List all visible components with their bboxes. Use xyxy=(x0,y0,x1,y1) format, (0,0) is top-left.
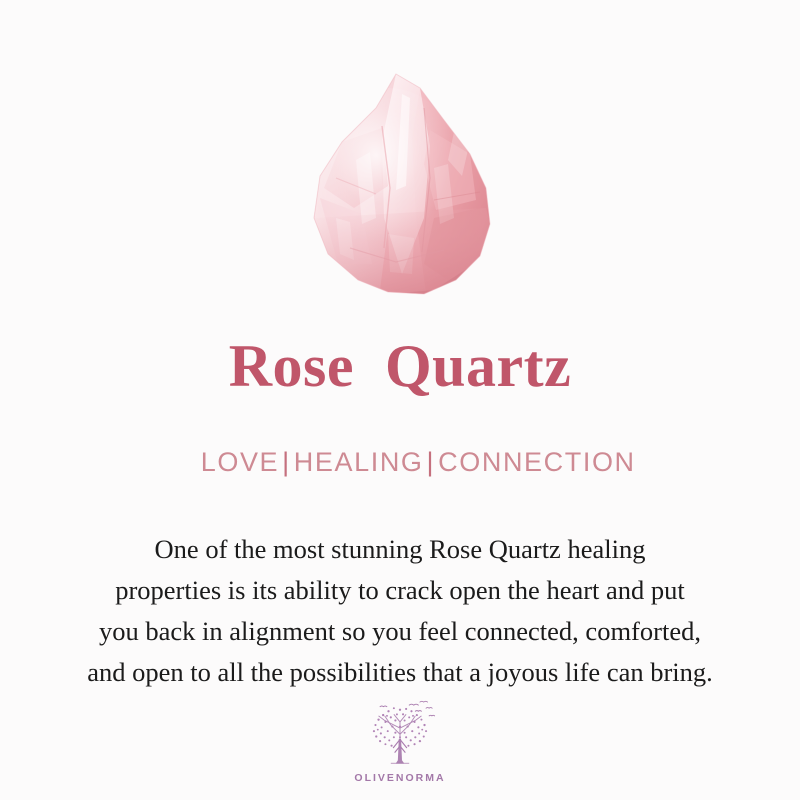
crystal-image-container xyxy=(0,0,800,300)
page-title: Rose Quartz xyxy=(229,300,572,396)
rose-quartz-crystal-icon xyxy=(284,68,516,300)
description-line: properties is its ability to crack open … xyxy=(20,570,780,611)
description-line: and open to all the possibilities that a… xyxy=(20,652,780,693)
keyword-healing: HEALING xyxy=(294,447,424,477)
keyword-love: LOVE xyxy=(201,447,279,477)
keyword-line: LOVE|HEALING|CONNECTION xyxy=(164,396,635,503)
tree-of-life-icon xyxy=(361,699,439,771)
product-info-card: Rose Quartz LOVE|HEALING|CONNECTION One … xyxy=(0,0,800,800)
description-line: you back in alignment so you feel connec… xyxy=(20,611,780,652)
brand-logo: OLIVENORMA xyxy=(0,699,800,784)
brand-name: OLIVENORMA xyxy=(354,772,445,784)
keyword-separator: | xyxy=(279,447,294,477)
description-line: One of the most stunning Rose Quartz hea… xyxy=(20,529,780,570)
keyword-separator: | xyxy=(424,447,439,477)
description-text: One of the most stunning Rose Quartz hea… xyxy=(20,503,780,693)
keyword-connection: CONNECTION xyxy=(438,447,636,477)
